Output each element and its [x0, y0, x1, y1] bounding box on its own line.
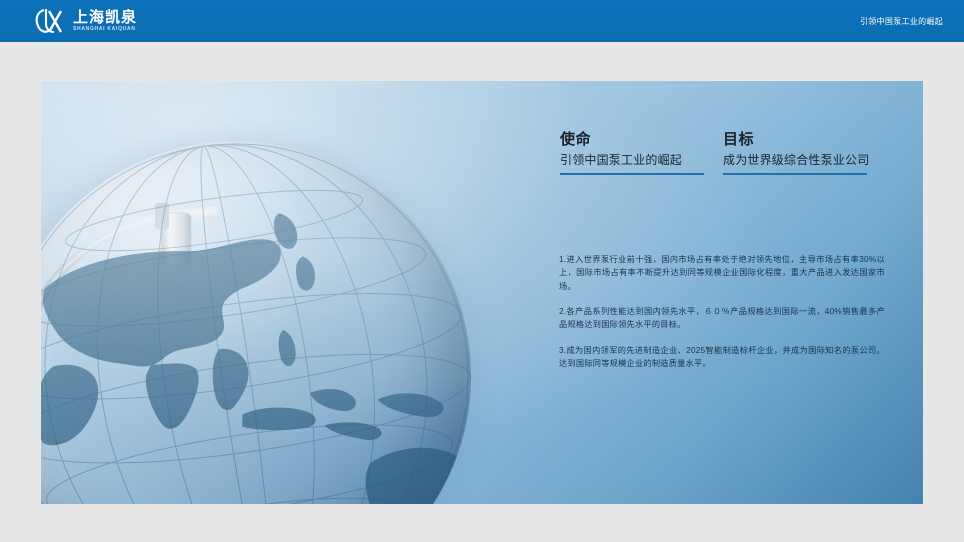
heading-block-goal: 目标 成为世界级综合性泵业公司: [723, 131, 867, 175]
mission-underline: [560, 173, 704, 175]
globe-graphic: [41, 141, 501, 504]
app-header-bar: 上海凯泉 SHANGHAI KAIQUAN 引领中国泵工业的崛起: [0, 0, 964, 42]
paragraph-item: 3.成为国内领军的先进制造企业、2025智能制造标杆企业，并成为国际知名的泵公司…: [559, 344, 885, 371]
kaiquan-logo-icon: [33, 7, 67, 35]
globe-sphere: [41, 141, 471, 504]
brand-name-cn: 上海凯泉: [73, 10, 137, 25]
slide-stage: 使命 引领中国泵工业的崛起 目标 成为世界级综合性泵业公司 1.进入世界泵行业前…: [0, 42, 964, 542]
headings-row: 使命 引领中国泵工业的崛起 目标 成为世界级综合性泵业公司: [560, 131, 867, 175]
paragraph-item: 2.各产品系列性能达到国内领先水平，６０％产品规格达到国际一流，40%销售最多产…: [559, 305, 885, 332]
heading-block-mission: 使命 引领中国泵工业的崛起: [560, 131, 704, 175]
slide-canvas: 使命 引领中国泵工业的崛起 目标 成为世界级综合性泵业公司 1.进入世界泵行业前…: [41, 81, 923, 504]
mission-title: 使命: [560, 131, 704, 149]
mission-subtitle: 引领中国泵工业的崛起: [560, 153, 704, 168]
goal-underline: [723, 173, 867, 175]
header-tagline: 引领中国泵工业的崛起: [860, 0, 943, 42]
brand-logo[interactable]: 上海凯泉 SHANGHAI KAIQUAN: [33, 7, 137, 35]
slide-text-column: 使命 引领中国泵工业的崛起 目标 成为世界级综合性泵业公司 1.进入世界泵行业前…: [519, 81, 923, 504]
paragraph-list: 1.进入世界泵行业前十强，国内市场占有率处于绝对领先地位，主导市场占有率30%以…: [559, 245, 885, 370]
header-tagline-text: 引领中国泵工业的崛起: [860, 16, 943, 27]
goal-title: 目标: [723, 131, 867, 149]
goal-subtitle: 成为世界级综合性泵业公司: [723, 153, 867, 168]
brand-name-en: SHANGHAI KAIQUAN: [73, 27, 137, 32]
paragraph-item: 1.进入世界泵行业前十强，国内市场占有率处于绝对领先地位，主导市场占有率30%以…: [559, 253, 885, 293]
